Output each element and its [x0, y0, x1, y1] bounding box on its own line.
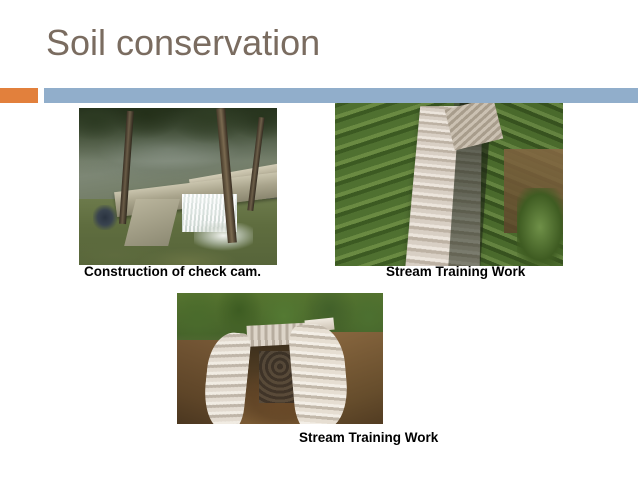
figure-caption-stream-terraces: Stream Training Work	[386, 265, 525, 279]
accent-bar	[44, 88, 638, 103]
figure-image-check-dam	[79, 108, 277, 265]
figure-image-stream-terraces	[335, 103, 563, 266]
slide: Soil conservation	[0, 0, 638, 479]
accent-square	[0, 88, 38, 103]
stream-terraces-scene	[335, 103, 563, 266]
plunge-pool	[194, 223, 253, 251]
shrub	[517, 188, 563, 266]
check-dam-scene	[79, 108, 277, 265]
stream-curve-scene	[177, 293, 383, 424]
person-figure	[93, 205, 117, 230]
figure-image-stream-curve	[177, 293, 383, 424]
figure-caption-stream-curve: Stream Training Work	[299, 431, 438, 445]
page-title: Soil conservation	[46, 23, 320, 63]
forest-canopy	[79, 108, 277, 161]
figure-caption-check-dam: Construction of check cam.	[84, 265, 261, 279]
accent-divider	[0, 88, 638, 103]
